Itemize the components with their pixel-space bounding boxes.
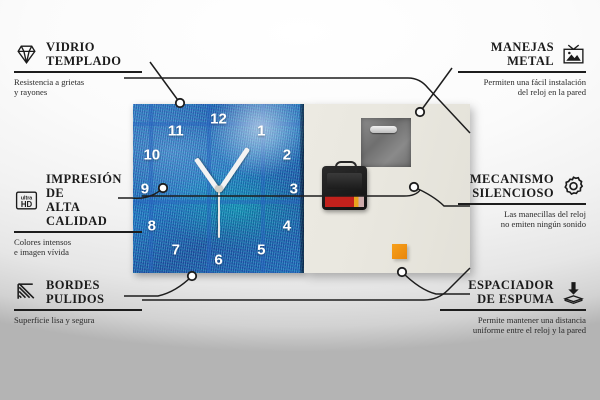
product-composite: 12 1 2 3 4 5 6 7 8 9 10 11 <box>133 104 470 273</box>
callout-desc-1: Superficie lisa y segura <box>14 315 142 326</box>
callout-title-2: DE ESPUMA <box>468 292 554 306</box>
wall-frame-icon <box>561 42 586 67</box>
ultra-hd-icon: ultra HD <box>14 188 39 213</box>
callout-rule <box>14 309 142 311</box>
clock-numeral-2: 2 <box>283 148 291 163</box>
clock-front-face: 12 1 2 3 4 5 6 7 8 9 10 11 <box>133 104 304 273</box>
callout-desc-1: Colores intensos <box>14 237 142 248</box>
callout-desc-1: Resistencia a grietas <box>14 77 142 88</box>
callout-title: BORDES <box>46 278 104 292</box>
clock-numeral-8: 8 <box>148 219 156 234</box>
diamond-icon <box>14 42 39 67</box>
mechanism-hook <box>335 161 357 172</box>
callout-rule <box>458 203 586 205</box>
callout-title-2: METAL <box>491 54 554 68</box>
callout-title: MANEJAS <box>491 40 554 54</box>
clock-numeral-10: 10 <box>143 148 160 163</box>
callout-bordes-pulidos: BORDES PULIDOS Superficie lisa y segura <box>14 278 142 325</box>
callout-espaciador-espuma: ESPACIADOR DE ESPUMA Permite mantener un… <box>440 278 586 336</box>
svg-text:HD: HD <box>21 199 33 208</box>
callout-title-2: PULIDOS <box>46 292 104 306</box>
callout-title: ESPACIADOR <box>468 278 554 292</box>
callout-rule <box>440 309 586 311</box>
clock-numeral-9: 9 <box>141 181 149 196</box>
callout-rule <box>14 231 142 233</box>
foam-spacer-arrow-icon <box>561 280 586 305</box>
clock-numeral-12: 12 <box>210 112 227 127</box>
callout-title-2: ALTA CALIDAD <box>46 200 142 228</box>
clock-numeral-3: 3 <box>290 181 298 196</box>
callout-desc-2: no emiten ningún sonido <box>458 219 586 230</box>
callout-title-2: SILENCIOSO <box>470 186 554 200</box>
clock-mechanism-box <box>322 166 367 210</box>
hanger-slot <box>370 126 397 133</box>
clock-numeral-5: 5 <box>257 243 265 258</box>
callout-impresion-alta-calidad: ultra HD IMPRESIÓN DE ALTA CALIDAD Color… <box>14 172 142 258</box>
clock-center-pivot <box>215 185 222 192</box>
callout-title: MECANISMO <box>470 172 554 186</box>
callout-desc-2: y rayones <box>14 87 142 98</box>
clock-numeral-4: 4 <box>283 219 291 234</box>
clock-back-panel <box>304 104 470 273</box>
callout-desc-1: Permite mantener una distancia <box>440 315 586 326</box>
callout-desc-1: Permiten una fácil instalación <box>458 77 586 88</box>
clock-second-hand <box>218 190 220 238</box>
polished-edges-icon <box>14 280 39 305</box>
callout-rule <box>458 71 586 73</box>
callout-vidrio-templado: VIDRIO TEMPLADO Resistencia a grietas y … <box>14 40 142 98</box>
callout-manejas-metal: MANEJAS METAL Permiten una fácil instala… <box>458 40 586 98</box>
callout-title: IMPRESIÓN DE <box>46 172 142 200</box>
callout-mecanismo-silencioso: MECANISMO SILENCIOSO Las manecillas del … <box>458 172 586 230</box>
callout-title: VIDRIO <box>46 40 121 54</box>
clock-numeral-11: 11 <box>168 124 184 139</box>
gear-icon <box>561 174 586 199</box>
callout-rule <box>14 71 142 73</box>
callout-desc-2: uniforme entre el reloj y la pared <box>440 325 586 336</box>
foam-spacer-square <box>392 244 407 259</box>
mechanism-label <box>325 196 364 207</box>
clock-numeral-7: 7 <box>172 243 180 258</box>
metal-hanger-plate <box>361 118 411 167</box>
callout-desc-2: del reloj en la pared <box>458 87 586 98</box>
callout-desc-1: Las manecillas del reloj <box>458 209 586 220</box>
clock-numeral-1: 1 <box>257 124 265 139</box>
clock-numeral-6: 6 <box>214 253 222 268</box>
connector-dot-bordes <box>188 272 196 280</box>
mechanism-front <box>327 173 362 189</box>
callout-desc-2: e imagen vívida <box>14 247 142 258</box>
infographic-canvas: 12 1 2 3 4 5 6 7 8 9 10 11 <box>0 0 600 400</box>
callout-title-2: TEMPLADO <box>46 54 121 68</box>
